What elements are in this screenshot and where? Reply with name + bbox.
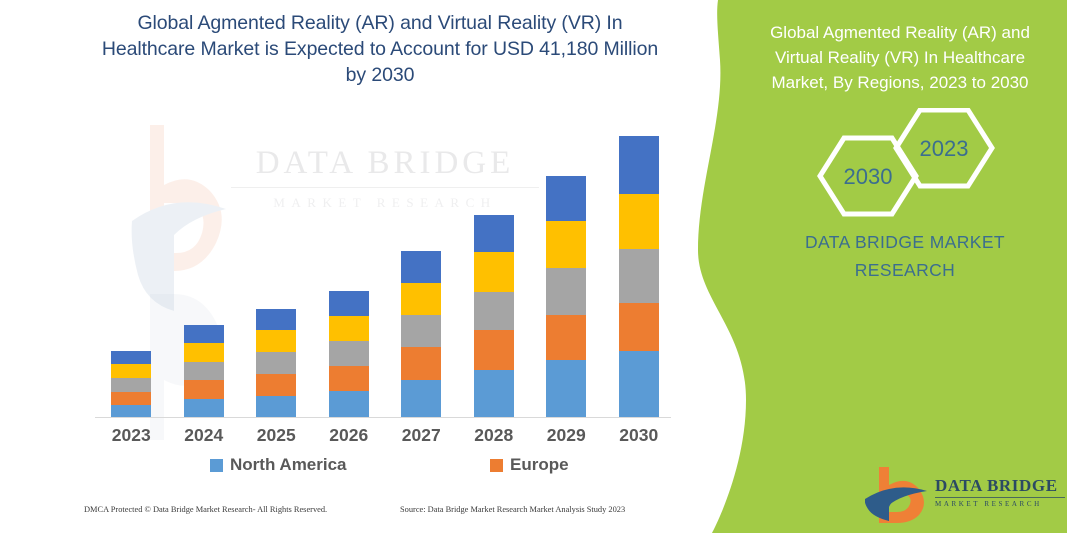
x-axis-label-2030: 2030 (603, 425, 675, 446)
logo-subtitle: MARKET RESEARCH (935, 500, 1065, 508)
legend-item-europe[interactable]: Europe (490, 455, 569, 475)
bar-column-2028 (474, 215, 514, 418)
hexagon-group: 2023 2030 (810, 108, 1000, 218)
x-axis-label-2025: 2025 (240, 425, 312, 446)
plot-area (95, 120, 675, 418)
bar-column-2027 (401, 251, 441, 418)
hexagon-2023-label: 2023 (920, 136, 969, 161)
bar-segment-2023-series-4 (111, 364, 151, 378)
bar-segment-2025-series-3 (256, 352, 296, 374)
bar-segment-2030-series-5 (619, 136, 659, 194)
bar-segment-2025-europe (256, 374, 296, 396)
green-side-panel: Global Agmented Reality (AR) and Virtual… (690, 0, 1067, 533)
bar-segment-2029-series-3 (546, 268, 586, 315)
brand-name: DATA BRIDGE MARKET RESEARCH (790, 228, 1020, 284)
bar-segment-2028-series-5 (474, 215, 514, 252)
x-axis-label-2026: 2026 (313, 425, 385, 446)
bar-segment-2028-north-america (474, 370, 514, 418)
bar-segment-2024-series-3 (184, 362, 224, 380)
hexagon-2030-label: 2030 (844, 164, 893, 189)
bar-segment-2025-north-america (256, 396, 296, 418)
logo-wordmark: DATA BRIDGE MARKET RESEARCH (935, 476, 1065, 508)
infographic-root: Global Agmented Reality (AR) and Virtual… (0, 0, 1067, 533)
footer: DMCA Protected © Data Bridge Market Rese… (0, 505, 700, 527)
bar-segment-2023-series-3 (111, 378, 151, 392)
bar-segment-2023-europe (111, 392, 151, 405)
green-panel-title: Global Agmented Reality (AR) and Virtual… (750, 20, 1050, 95)
legend-label: Europe (510, 455, 569, 475)
bar-column-2024 (184, 325, 224, 418)
bar-segment-2030-north-america (619, 351, 659, 418)
bar-segment-2026-europe (329, 366, 369, 391)
x-axis-label-2024: 2024 (168, 425, 240, 446)
legend-label: North America (230, 455, 347, 475)
bar-segment-2026-north-america (329, 391, 369, 418)
bar-segment-2027-series-4 (401, 283, 441, 315)
bar-segment-2029-europe (546, 315, 586, 360)
bar-segment-2025-series-4 (256, 330, 296, 352)
footer-dmca-notice: DMCA Protected © Data Bridge Market Rese… (84, 505, 327, 514)
bar-segment-2024-north-america (184, 399, 224, 418)
data-bridge-logo: DATA BRIDGE MARKET RESEARCH (865, 465, 1065, 527)
x-axis-label-2023: 2023 (95, 425, 167, 446)
footer-source-note: Source: Data Bridge Market Research Mark… (400, 505, 625, 514)
axis-baseline (95, 417, 671, 418)
bar-segment-2027-series-3 (401, 315, 441, 347)
chart-title: Global Agmented Reality (AR) and Virtual… (95, 10, 665, 88)
bar-segment-2029-series-4 (546, 221, 586, 268)
legend-swatch-icon (210, 459, 223, 472)
bar-segment-2026-series-5 (329, 291, 369, 316)
chart-legend: North AmericaEurope (95, 455, 675, 479)
logo-divider (935, 497, 1065, 498)
bar-segment-2028-europe (474, 330, 514, 370)
bar-column-2023 (111, 351, 151, 418)
bar-segment-2029-north-america (546, 360, 586, 418)
bar-segment-2025-series-5 (256, 309, 296, 330)
logo-mark-icon (865, 465, 931, 523)
bar-segment-2028-series-4 (474, 252, 514, 292)
bar-segment-2026-series-4 (329, 316, 369, 341)
bar-segment-2024-series-4 (184, 343, 224, 362)
bar-column-2026 (329, 291, 369, 418)
bar-segment-2027-north-america (401, 380, 441, 418)
bar-segment-2029-series-5 (546, 176, 586, 221)
bar-segment-2024-series-5 (184, 325, 224, 343)
chart-panel: Global Agmented Reality (AR) and Virtual… (0, 0, 720, 533)
x-axis-label-2029: 2029 (530, 425, 602, 446)
bar-segment-2026-series-3 (329, 341, 369, 366)
bar-segment-2028-series-3 (474, 292, 514, 330)
bar-segment-2023-series-5 (111, 351, 151, 364)
bar-segment-2027-series-5 (401, 251, 441, 283)
legend-item-north-america[interactable]: North America (210, 455, 347, 475)
bar-column-2029 (546, 176, 586, 418)
bar-column-2030 (619, 136, 659, 418)
bar-segment-2030-series-3 (619, 249, 659, 303)
logo-title: DATA BRIDGE (935, 476, 1065, 496)
bar-segment-2027-europe (401, 347, 441, 380)
bar-segment-2030-europe (619, 303, 659, 351)
x-axis-labels: 20232024202520262027202820292030 (95, 425, 675, 451)
bar-segment-2024-europe (184, 380, 224, 399)
bar-segment-2030-series-4 (619, 194, 659, 249)
x-axis-label-2027: 2027 (385, 425, 457, 446)
x-axis-label-2028: 2028 (458, 425, 530, 446)
bar-column-2025 (256, 309, 296, 418)
legend-swatch-icon (490, 459, 503, 472)
